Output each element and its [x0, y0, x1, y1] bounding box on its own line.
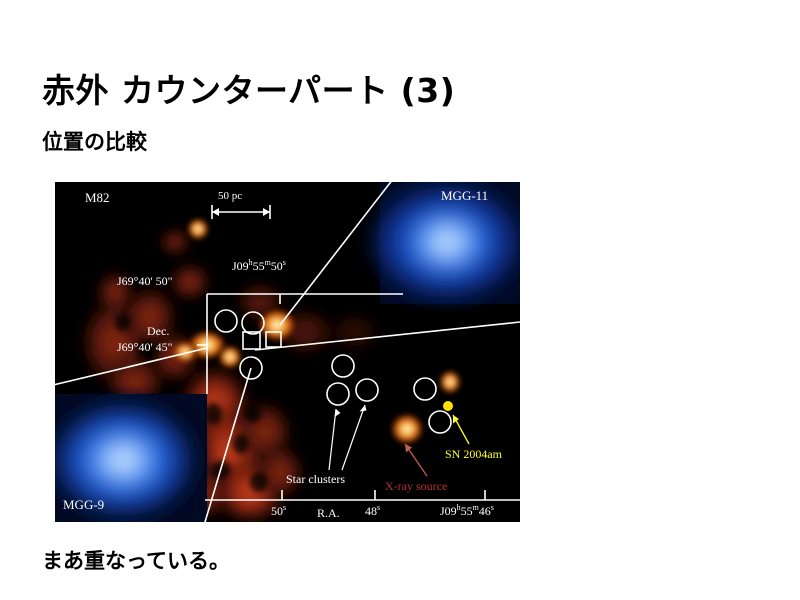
ir-source-xray-counterpart	[390, 413, 424, 445]
ir-source-west2	[172, 341, 198, 363]
sn-marker-dot	[443, 401, 453, 411]
ir-source-bright-center	[257, 308, 297, 342]
slide-footnote: まあ重なっている。	[42, 545, 230, 575]
figure-canvas	[55, 182, 520, 522]
inset-mgg9	[55, 394, 207, 522]
inset-mgg11	[373, 182, 520, 304]
astronomy-figure: M82 MGG-11 MGG-9 50 pc J69°40' 50" Dec. …	[55, 182, 520, 522]
ir-source-west3	[218, 345, 242, 369]
ir-source-north	[187, 218, 209, 240]
ir-source-east-upper	[439, 370, 461, 394]
slide-subtitle: 位置の比較	[42, 126, 147, 156]
page-title: 赤外 カウンターパート (3)	[42, 64, 455, 112]
